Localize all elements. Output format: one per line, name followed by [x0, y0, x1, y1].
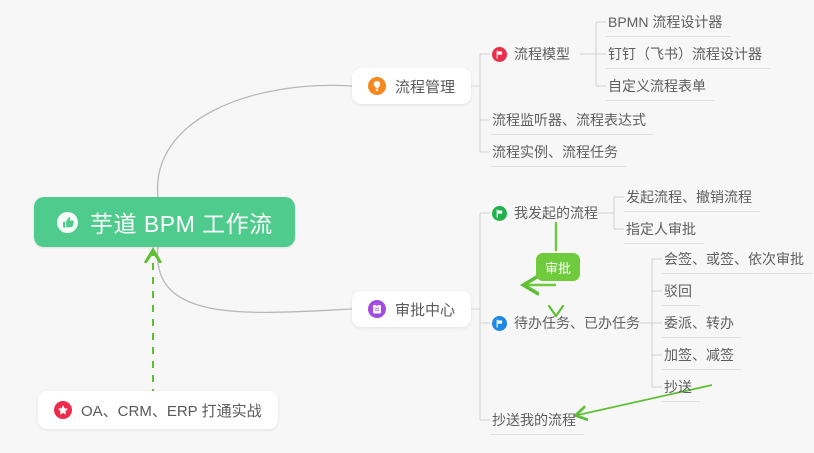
- node-process-instance[interactable]: 流程实例、流程任务: [490, 137, 626, 167]
- approval-badge-label: 审批: [545, 258, 571, 277]
- node-cc-to-me[interactable]: 抄送我的流程: [490, 405, 584, 435]
- thumbs-up-icon: [56, 211, 79, 234]
- node-label: 驳回: [664, 281, 692, 301]
- node-custom-process-form[interactable]: 自定义流程表单: [606, 71, 714, 101]
- node-label: 指定人审批: [626, 219, 696, 239]
- branch-node-process-management[interactable]: 流程管理: [352, 68, 471, 104]
- node-label: 抄送: [664, 377, 692, 397]
- node-process-listener[interactable]: 流程监听器、流程表达式: [490, 105, 654, 135]
- node-carbon-copy[interactable]: 抄送: [662, 372, 700, 402]
- flag-icon: [492, 206, 507, 221]
- node-countersign[interactable]: 会签、或签、依次审批: [662, 244, 812, 274]
- node-label: 抄送我的流程: [492, 410, 576, 430]
- node-label: 发起流程、撤销流程: [626, 187, 752, 207]
- bottom-note-label: OA、CRM、ERP 打通实战: [81, 400, 262, 421]
- node-delegate-transfer[interactable]: 委派、转办: [662, 308, 742, 338]
- node-label: 流程实例、流程任务: [492, 142, 618, 162]
- lightbulb-icon: [368, 77, 386, 95]
- node-my-initiated[interactable]: 我发起的流程: [490, 198, 606, 228]
- node-label: 流程模型: [514, 44, 570, 64]
- approval-badge: 审批: [536, 253, 580, 281]
- node-label: 会签、或签、依次审批: [664, 249, 804, 269]
- bottom-note[interactable]: OA、CRM、ERP 打通实战: [38, 391, 278, 429]
- node-label: 委派、转办: [664, 313, 734, 333]
- node-label: BPMN 流程设计器: [608, 12, 722, 32]
- node-add-remove-sign[interactable]: 加签、减签: [662, 340, 742, 370]
- branch-node-approval-center[interactable]: 审批中心: [352, 291, 471, 327]
- node-assignee-approval[interactable]: 指定人审批: [624, 214, 704, 244]
- clipboard-icon: [368, 300, 386, 318]
- star-icon: [54, 401, 72, 419]
- flag-icon: [492, 47, 507, 62]
- node-process-model[interactable]: 流程模型: [490, 39, 578, 69]
- branch-label: 流程管理: [395, 76, 455, 97]
- branch-label: 审批中心: [395, 299, 455, 320]
- node-start-cancel-process[interactable]: 发起流程、撤销流程: [624, 182, 760, 212]
- root-node[interactable]: 芋道 BPM 工作流: [34, 197, 295, 247]
- node-label: 我发起的流程: [514, 203, 598, 223]
- node-dingtalk-feishu-designer[interactable]: 钉钉（飞书）流程设计器: [606, 39, 770, 69]
- node-label: 钉钉（飞书）流程设计器: [608, 44, 762, 64]
- node-reject[interactable]: 驳回: [662, 276, 700, 306]
- node-todo-done-tasks[interactable]: 待办任务、已办任务: [490, 308, 648, 338]
- node-label: 加签、减签: [664, 345, 734, 365]
- flag-icon: [492, 316, 507, 331]
- node-bpmn-designer[interactable]: BPMN 流程设计器: [606, 7, 730, 37]
- node-label: 自定义流程表单: [608, 76, 706, 96]
- node-label: 流程监听器、流程表达式: [492, 110, 646, 130]
- mindmap-canvas: 芋道 BPM 工作流 流程管理 流程模型 BPMN 流程设计器 钉钉（飞书）流程: [0, 0, 814, 453]
- node-label: 待办任务、已办任务: [514, 313, 640, 333]
- root-label: 芋道 BPM 工作流: [90, 205, 273, 239]
